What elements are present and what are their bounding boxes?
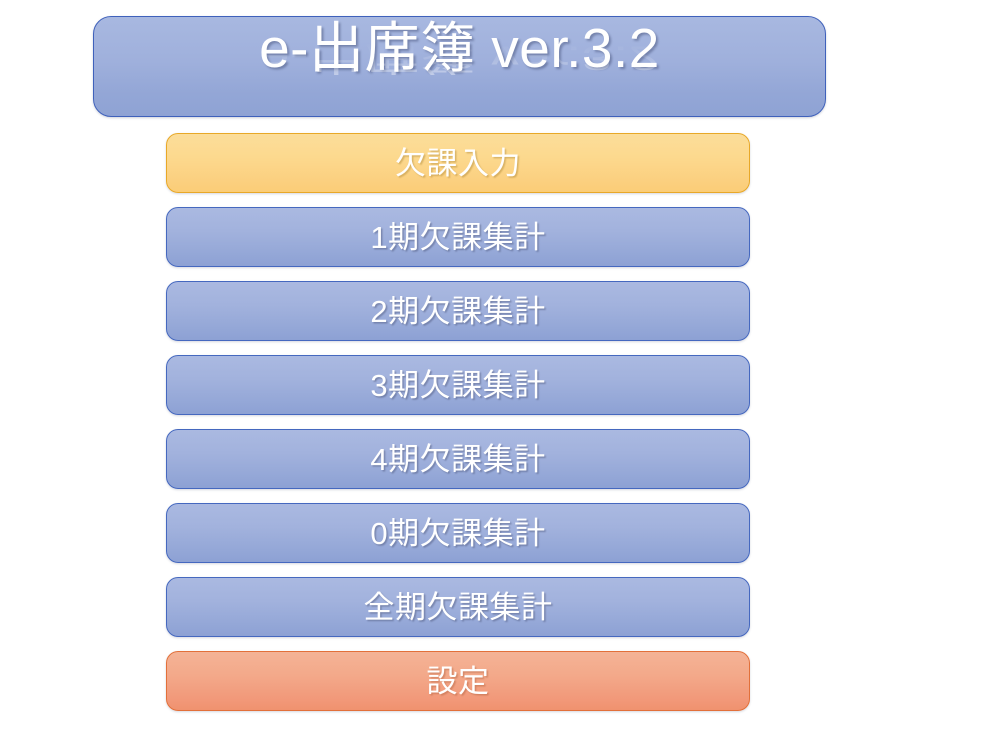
- page-title: e-出席簿 ver.3.2: [94, 21, 825, 76]
- main-menu: 欠課入力1期欠課集計2期欠課集計3期欠課集計4期欠課集計0期欠課集計全期欠課集計…: [166, 133, 750, 711]
- menu-button-label: 0期欠課集計: [167, 505, 749, 562]
- menu-button-label: 1期欠課集計: [167, 209, 749, 266]
- menu-button-term-4-absence-summary[interactable]: 4期欠課集計: [166, 429, 750, 489]
- menu-button-term-0-absence-summary[interactable]: 0期欠課集計: [166, 503, 750, 563]
- menu-button-label: 2期欠課集計: [167, 283, 749, 340]
- menu-button-term-3-absence-summary[interactable]: 3期欠課集計: [166, 355, 750, 415]
- app-root: e-出席簿 ver.3.2 e-出席簿 ver.3.2 欠課入力1期欠課集計2期…: [0, 0, 1000, 748]
- title-stack: e-出席簿 ver.3.2 e-出席簿 ver.3.2: [94, 21, 825, 117]
- menu-button-all-terms-absence-summary[interactable]: 全期欠課集計: [166, 577, 750, 637]
- menu-button-term-2-absence-summary[interactable]: 2期欠課集計: [166, 281, 750, 341]
- menu-button-label: 欠課入力: [167, 135, 749, 192]
- menu-button-term-1-absence-summary[interactable]: 1期欠課集計: [166, 207, 750, 267]
- menu-button-label: 設定: [167, 653, 749, 710]
- title-banner: e-出席簿 ver.3.2 e-出席簿 ver.3.2: [93, 16, 826, 117]
- menu-button-absence-entry[interactable]: 欠課入力: [166, 133, 750, 193]
- menu-button-settings[interactable]: 設定: [166, 651, 750, 711]
- menu-button-label: 全期欠課集計: [167, 579, 749, 636]
- menu-button-label: 4期欠課集計: [167, 431, 749, 488]
- menu-button-label: 3期欠課集計: [167, 357, 749, 414]
